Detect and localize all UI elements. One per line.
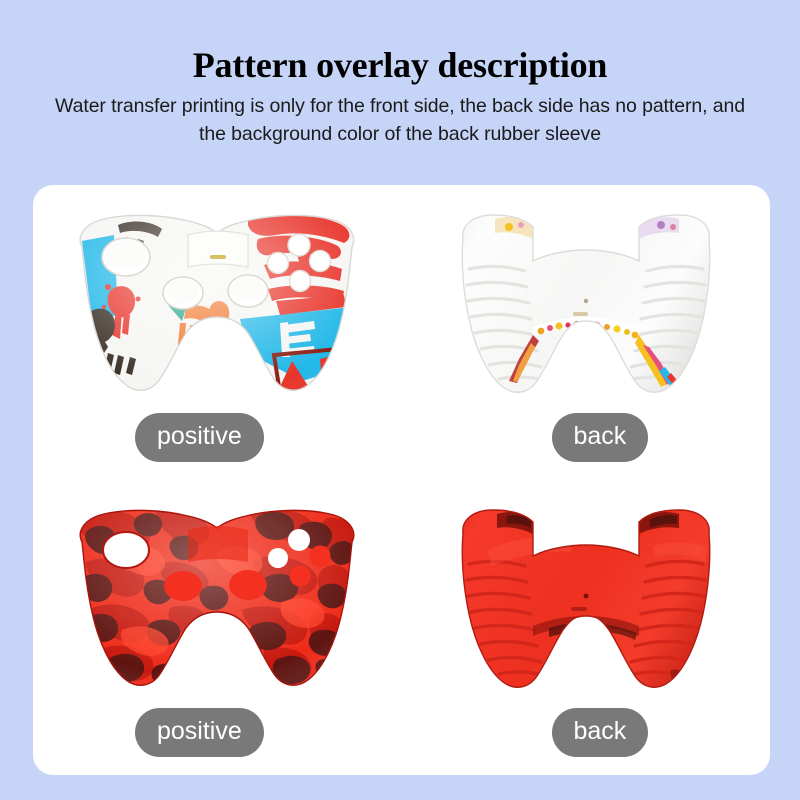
camo-back-illustration [421,490,751,715]
graffiti-front-illustration [52,195,382,420]
camo-front-illustration [52,490,382,715]
product-cell-graffiti-front[interactable]: positive [33,185,402,480]
view-badge-graffiti-back: back [552,413,649,462]
product-cell-graffiti-back[interactable]: back [402,185,771,480]
controller-image-camo-front [33,490,402,718]
page-title: Pattern overlay description [0,44,800,86]
controller-image-graffiti-front [33,195,402,423]
view-badge-camo-back: back [552,708,649,757]
page-subtitle: Water transfer printing is only for the … [0,92,800,148]
graffiti-back-illustration [421,195,751,420]
product-cell-camo-back[interactable]: back [402,480,771,775]
view-badge-graffiti-front: positive [135,413,264,462]
view-badge-camo-front: positive [135,708,264,757]
product-cell-camo-front[interactable]: positive [33,480,402,775]
controller-image-graffiti-back [402,195,771,423]
controller-image-camo-back [402,490,771,718]
product-gallery-card: positive [33,185,770,775]
page-header: Pattern overlay description Water transf… [0,0,800,185]
